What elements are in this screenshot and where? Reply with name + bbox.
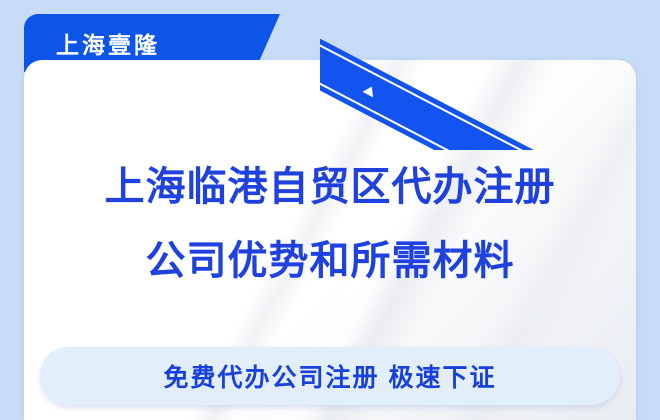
brand-tab-label: 上海壹隆 (56, 26, 160, 60)
page-title-line-1: 上海临港自贸区代办注册 (24, 150, 636, 224)
page-title-line-2: 公司优势和所需材料 (24, 224, 636, 298)
cta-pill-label: 免费代办公司注册 极速下证 (164, 358, 497, 394)
cta-pill[interactable]: 免费代办公司注册 极速下证 (40, 347, 620, 405)
page-title: 上海临港自贸区代办注册 公司优势和所需材料 (24, 150, 636, 298)
poster-canvas: 上海壹隆 不成功 不收费 上海临港自贸区代办注册 公司优势和所需材料 免费代办公… (0, 0, 660, 420)
